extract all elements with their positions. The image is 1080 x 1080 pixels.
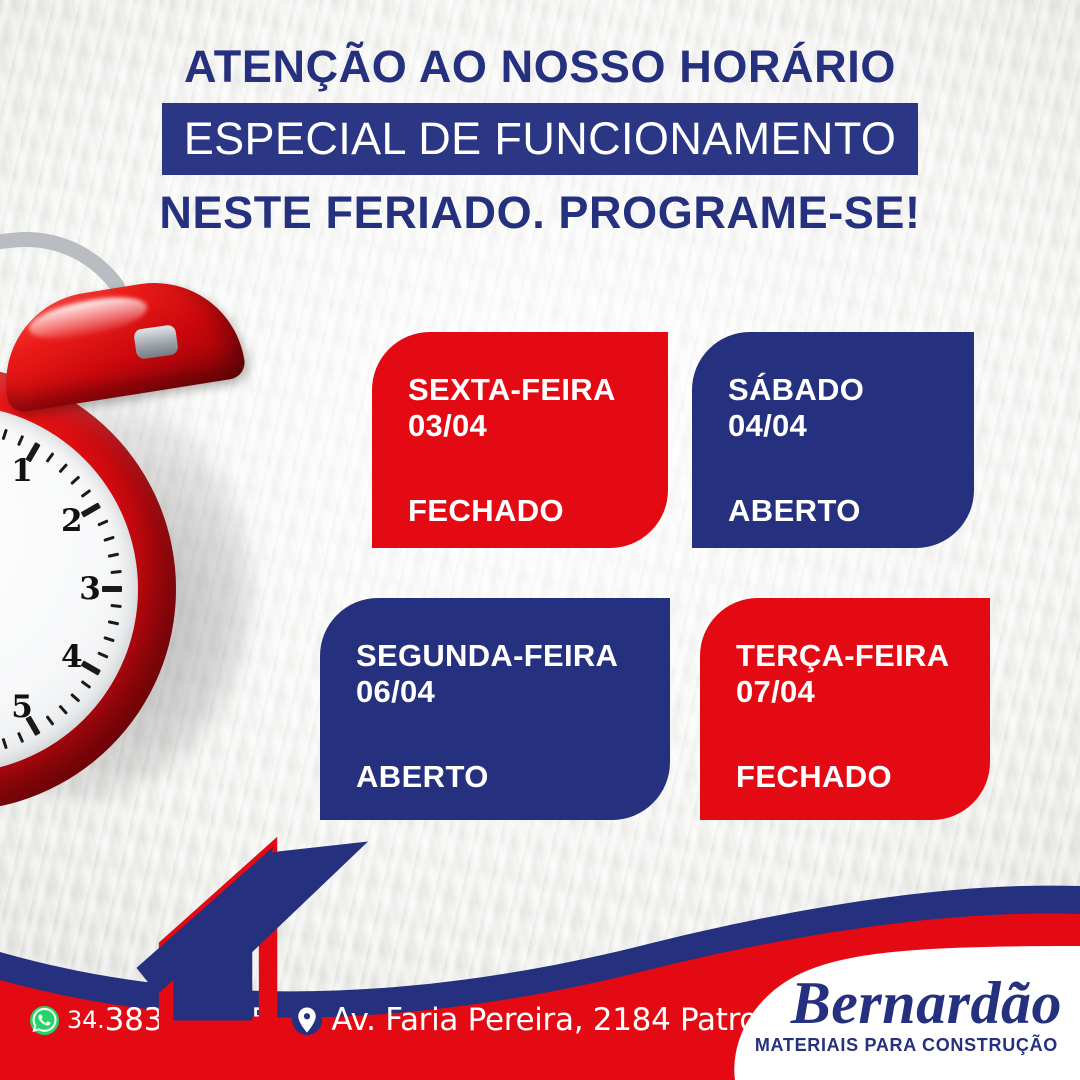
clock-numeral: 1 bbox=[11, 453, 33, 489]
card-date-label: 06/04 bbox=[356, 674, 670, 710]
card-date-label: 07/04 bbox=[736, 674, 990, 710]
card-status-label: ABERTO bbox=[356, 759, 670, 795]
card-day-label: SÁBADO bbox=[728, 372, 974, 408]
clock-winder-knob bbox=[133, 324, 179, 360]
card-status-label: FECHADO bbox=[408, 493, 668, 529]
schedule-card: SÁBADO 04/04 ABERTO bbox=[692, 332, 974, 548]
logo-wordmark: Bernardão bbox=[791, 975, 1062, 1033]
clock-numeral: 4 bbox=[61, 639, 83, 675]
logo-tagline: MATERIAIS PARA CONSTRUÇÃO bbox=[755, 1035, 1058, 1056]
house-roof-icon bbox=[0, 831, 787, 1031]
clock-numeral: 3 bbox=[79, 571, 101, 607]
card-status-label: ABERTO bbox=[728, 493, 974, 529]
schedule-card: SEGUNDA-FEIRA 06/04 ABERTO bbox=[320, 598, 670, 820]
clock-numeral: 5 bbox=[11, 689, 33, 725]
card-date-label: 03/04 bbox=[408, 408, 668, 444]
footer-band: 34. 3831.4595 Av. Faria Pereira, 2184 Pa… bbox=[0, 880, 1080, 1080]
card-status-label: FECHADO bbox=[736, 759, 990, 795]
card-date-label: 04/04 bbox=[728, 408, 974, 444]
clock-numeral: 2 bbox=[61, 503, 83, 539]
clock-tick-major bbox=[0, 586, 122, 592]
logo-row: Bernardão bbox=[0, 831, 1062, 1033]
card-day-label: SEXTA-FEIRA bbox=[408, 372, 668, 408]
brand-logo[interactable]: Bernardão MATERIAIS PARA CONSTRUÇÃO bbox=[0, 831, 1062, 1056]
schedule-card: SEXTA-FEIRA 03/04 FECHADO bbox=[372, 332, 668, 548]
schedule-card: TERÇA-FEIRA 07/04 FECHADO bbox=[700, 598, 990, 820]
poster-canvas: ATENÇÃO AO NOSSO HORÁRIO ESPECIAL DE FUN… bbox=[0, 0, 1080, 1080]
card-day-label: SEGUNDA-FEIRA bbox=[356, 638, 670, 674]
card-day-label: TERÇA-FEIRA bbox=[736, 638, 990, 674]
